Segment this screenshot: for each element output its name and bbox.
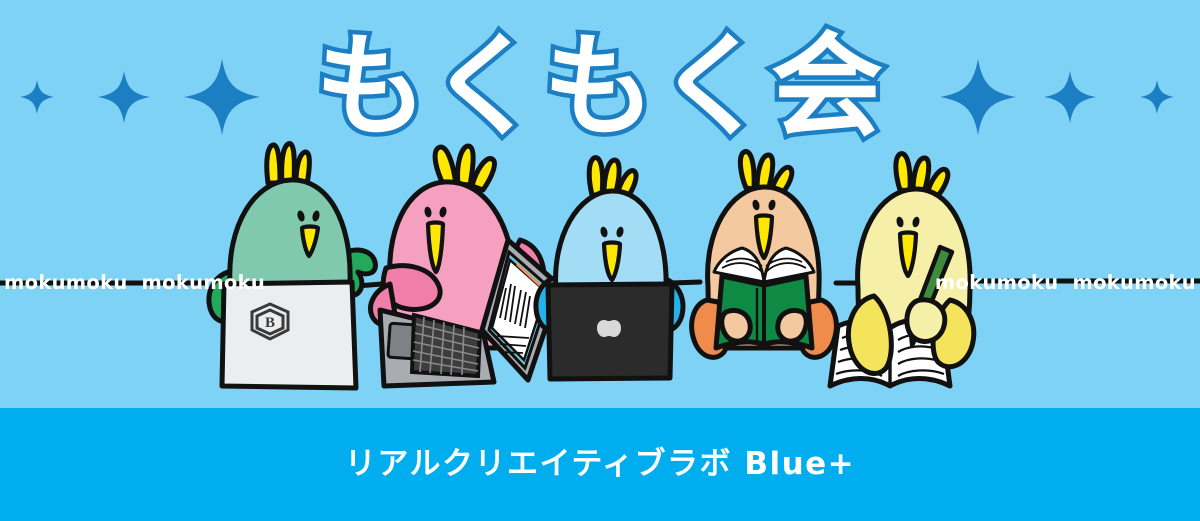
subtitle-text: リアルクリエイティブラボ Blue+ — [345, 449, 855, 480]
sparkle-group-right — [940, 59, 1174, 135]
prop-white-laptop: B — [222, 282, 356, 388]
side-text-left: mokumokumokumoku — [4, 271, 265, 294]
character-green-bird: B — [209, 144, 376, 388]
character-peach-bird — [692, 152, 837, 358]
mokumoku-banner: B — [0, 0, 1200, 521]
sparkle-icon — [98, 71, 150, 123]
sparkle-icon — [1044, 71, 1096, 123]
hand — [722, 311, 751, 342]
prop-dark-laptop — [548, 284, 672, 379]
side-text-right-1: mokumoku — [935, 271, 1059, 294]
side-text-left-1: mokumoku — [4, 271, 128, 294]
side-text-right-2: mokumoku — [1072, 271, 1196, 294]
character-light-blue-bird — [536, 158, 683, 379]
hand — [907, 300, 945, 342]
sparkle-icon — [1140, 80, 1174, 114]
b-logo-letter: B — [265, 315, 275, 331]
hand — [778, 311, 807, 342]
character-yellow-bird — [830, 154, 974, 386]
side-text-right: mokumokumokumoku — [935, 271, 1196, 294]
sparkle-group-left — [20, 59, 260, 135]
side-text-left-2: mokumoku — [142, 271, 266, 294]
sparkle-icon — [184, 59, 260, 135]
character-pink-bird — [371, 146, 560, 386]
subtitle-bar: リアルクリエイティブラボ Blue+ — [0, 408, 1200, 521]
wing — [848, 296, 891, 374]
sparkle-icon — [940, 59, 1016, 135]
sparkle-icon — [20, 80, 54, 114]
